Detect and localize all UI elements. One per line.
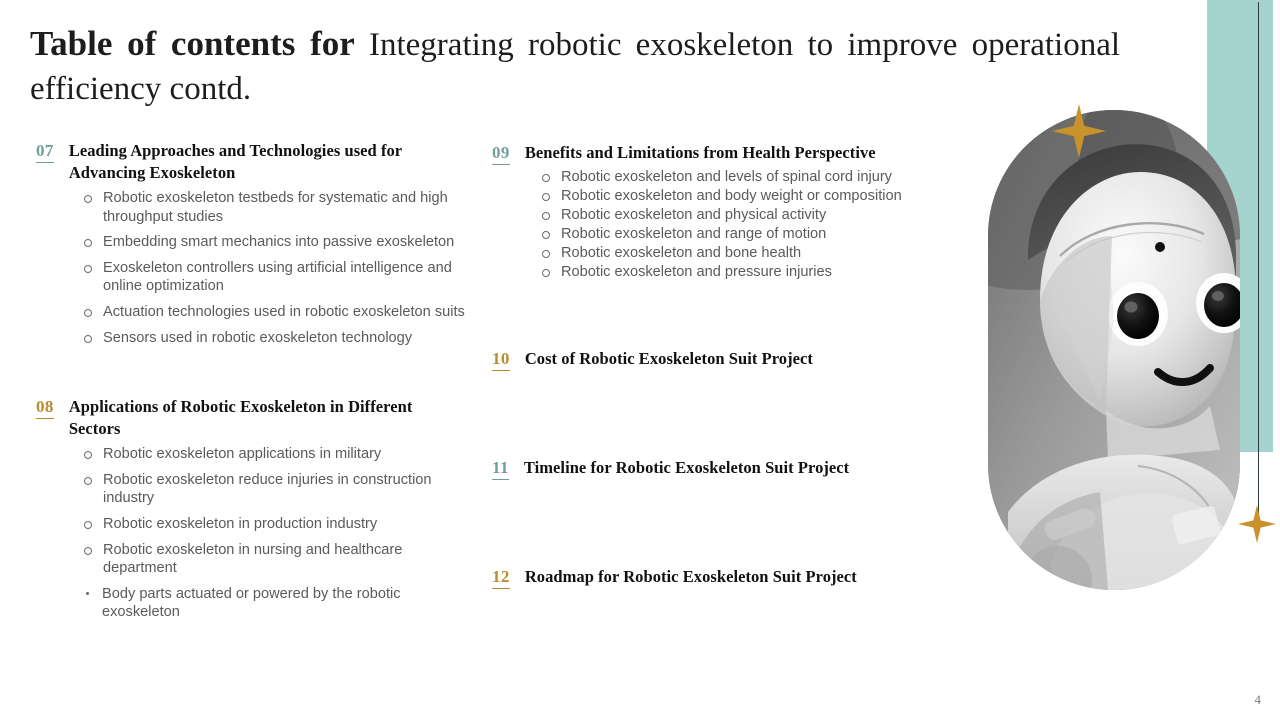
toc-entry-12[interactable]: 12 Roadmap for Robotic Exoskeleton Suit …: [492, 566, 972, 589]
sparkle-star-bottom: [1238, 505, 1276, 543]
toc-entry-10[interactable]: 10 Cost of Robotic Exoskeleton Suit Proj…: [492, 348, 972, 371]
toc-number-09: 09: [492, 142, 510, 165]
robot-photo: [988, 110, 1240, 590]
toc-heading-11: Timeline for Robotic Exoskeleton Suit Pr…: [524, 457, 972, 479]
toc-number-10: 10: [492, 348, 510, 371]
toc-heading-12: Roadmap for Robotic Exoskeleton Suit Pro…: [525, 566, 972, 588]
toc-right-column: 09 Benefits and Limitations from Health …: [492, 142, 972, 593]
page-title-strong: Table of contents for: [30, 24, 355, 63]
column-gap: [492, 286, 972, 348]
column-gap: [492, 375, 972, 457]
list-item: Robotic exoskeleton reduce injuries in c…: [82, 471, 466, 508]
list-item: Sensors used in robotic exoskeleton tech…: [82, 329, 466, 348]
toc-entry-09-head: 09 Benefits and Limitations from Health …: [492, 142, 972, 165]
toc-number-12: 12: [492, 566, 510, 589]
toc-heading-08: Applications of Robotic Exoskeleton in D…: [69, 396, 466, 440]
toc-heading-09: Benefits and Limitations from Health Per…: [525, 142, 972, 164]
toc-entry-11[interactable]: 11 Timeline for Robotic Exoskeleton Suit…: [492, 457, 972, 480]
toc-subbullets-08: Body parts actuated or powered by the ro…: [82, 585, 466, 622]
list-item: Actuation technologies used in robotic e…: [82, 303, 466, 322]
list-item: Robotic exoskeleton applications in mili…: [82, 445, 466, 464]
toc-number-11: 11: [492, 457, 509, 480]
page-number: 4: [1255, 692, 1262, 708]
toc-entry-10-head: 10 Cost of Robotic Exoskeleton Suit Proj…: [492, 348, 972, 371]
toc-bullets-09: Robotic exoskeleton and levels of spinal…: [540, 168, 972, 282]
list-item: Exoskeleton controllers using artificial…: [82, 259, 466, 296]
sparkle-star-top: [1052, 104, 1106, 158]
vertical-rule: [1258, 2, 1259, 514]
list-item: Robotic exoskeleton and range of motion: [540, 225, 972, 244]
toc-entry-07-head: 07 Leading Approaches and Technologies u…: [36, 140, 466, 184]
toc-number-07: 07: [36, 140, 54, 163]
toc-entry-08[interactable]: 08 Applications of Robotic Exoskeleton i…: [36, 396, 466, 622]
toc-heading-10: Cost of Robotic Exoskeleton Suit Project: [525, 348, 972, 370]
toc-heading-07: Leading Approaches and Technologies used…: [69, 140, 466, 184]
toc-entry-12-head: 12 Roadmap for Robotic Exoskeleton Suit …: [492, 566, 972, 589]
toc-entry-08-head: 08 Applications of Robotic Exoskeleton i…: [36, 396, 466, 440]
list-item: Embedding smart mechanics into passive e…: [82, 233, 466, 252]
toc-number-08: 08: [36, 396, 54, 419]
toc-bullets-08: Robotic exoskeleton applications in mili…: [82, 445, 466, 578]
list-item: Robotic exoskeleton and body weight or c…: [540, 187, 972, 206]
toc-bullets-07: Robotic exoskeleton testbeds for systema…: [82, 189, 466, 347]
column-gap: [36, 354, 466, 396]
list-item: Robotic exoskeleton in production indust…: [82, 515, 466, 534]
list-item: Robotic exoskeleton and levels of spinal…: [540, 168, 972, 187]
toc-entry-11-head: 11 Timeline for Robotic Exoskeleton Suit…: [492, 457, 972, 480]
column-gap: [492, 484, 972, 566]
list-item: Robotic exoskeleton and bone health: [540, 244, 972, 263]
list-item: Robotic exoskeleton and pressure injurie…: [540, 263, 972, 282]
page-title: Table of contents for Integrating roboti…: [30, 22, 1120, 111]
toc-entry-09[interactable]: 09 Benefits and Limitations from Health …: [492, 142, 972, 282]
list-item: Robotic exoskeleton and physical activit…: [540, 206, 972, 225]
list-item: Robotic exoskeleton in nursing and healt…: [82, 541, 466, 578]
list-item: Body parts actuated or powered by the ro…: [82, 585, 466, 622]
toc-entry-07[interactable]: 07 Leading Approaches and Technologies u…: [36, 140, 466, 347]
list-item: Robotic exoskeleton testbeds for systema…: [82, 189, 466, 226]
toc-left-column: 07 Leading Approaches and Technologies u…: [36, 140, 466, 626]
